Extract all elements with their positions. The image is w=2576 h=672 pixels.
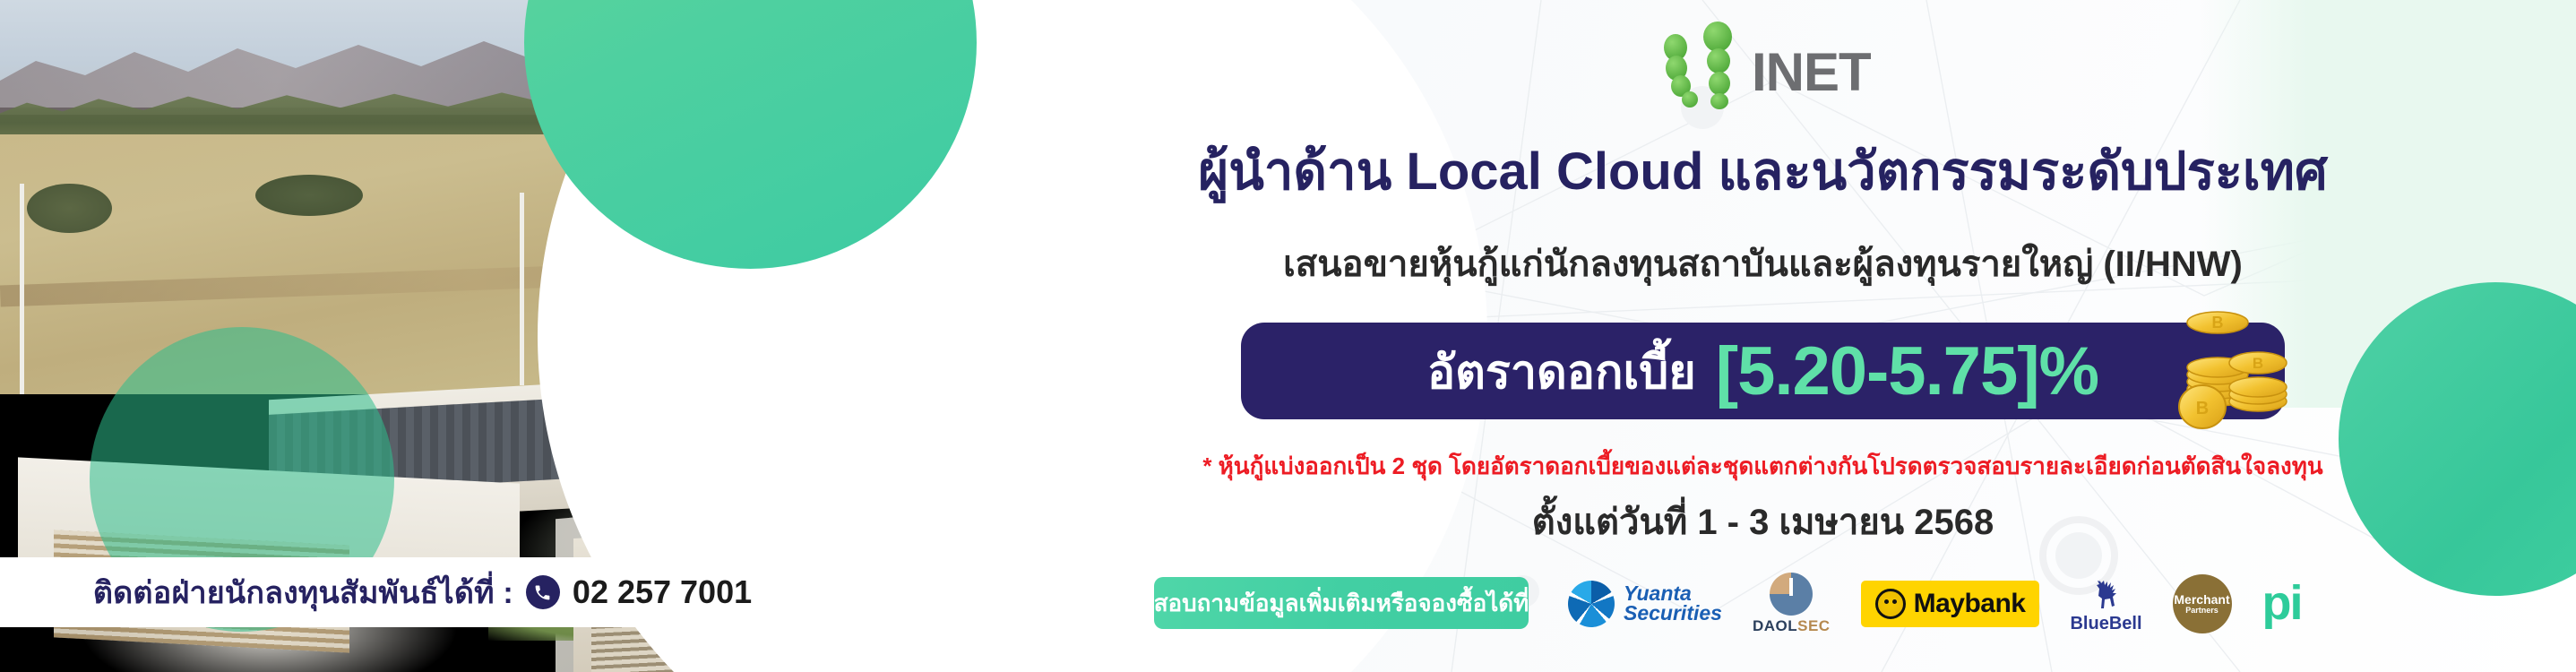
daol-sec-label: SEC xyxy=(1797,617,1830,634)
contact-label: ติดต่อฝ่ายนักลงทุนสัมพันธ์ได้ที่ : xyxy=(93,568,513,616)
inet-logo: INET xyxy=(1662,20,1958,102)
content-column: INET ผู้นำด้าน Local Cloud และนวัตกรรมระ… xyxy=(950,0,2576,672)
svg-text:B: B xyxy=(2253,355,2263,372)
partner-logo-bluebell[interactable]: BlueBell xyxy=(2070,573,2141,634)
partner-logo-pi[interactable]: pi xyxy=(2262,584,2302,623)
page-subtitle: เสนอขายหุ้นกู้แก่นักลงทุนสถาบันและผู้ลงท… xyxy=(950,235,2576,292)
partner-logo-yuanta[interactable]: Yuanta Securities xyxy=(1568,581,1722,627)
partner-logos: Yuanta Securities DAOLSEC Maybank xyxy=(1568,568,2302,640)
interest-rate-section: อัตราดอกเบี้ย [5.20-5.75]% B xyxy=(950,315,2576,427)
daol-label: DAOL xyxy=(1753,617,1797,634)
logo-dots-icon xyxy=(1662,20,1748,102)
bluebell-label: BlueBell xyxy=(2070,614,2141,634)
merchant-label: Merchant xyxy=(2174,593,2229,607)
interest-rate-banner: อัตราดอกเบี้ย [5.20-5.75]% xyxy=(1241,323,2285,419)
bluebell-deer-icon xyxy=(2087,573,2126,613)
promotional-banner: ติดต่อฝ่ายนักลงทุนสัมพันธ์ได้ที่ : 02 25… xyxy=(0,0,2576,672)
yuanta-label-line2: Securities xyxy=(1624,604,1722,624)
contact-phone-number: 02 257 7001 xyxy=(573,573,752,611)
logo-wordmark: INET xyxy=(1752,41,1871,103)
yuanta-star-icon xyxy=(1568,581,1615,627)
svg-text:B: B xyxy=(2196,399,2209,418)
investor-relations-contact[interactable]: ติดต่อฝ่ายนักลงทุนสัมพันธ์ได้ที่ : 02 25… xyxy=(0,557,845,627)
merchant-partners-label: Partners xyxy=(2185,606,2218,615)
gold-coins-icon: B B B xyxy=(2168,296,2303,430)
interest-rate-label: อัตราดอกเบี้ย xyxy=(1427,334,1696,409)
inquiry-button[interactable]: สอบถามข้อมูลเพิ่มเติมหรือจองซื้อได้ที่ xyxy=(1154,577,1529,629)
interest-rate-value: [5.20-5.75]% xyxy=(1716,332,2098,410)
maybank-tiger-icon xyxy=(1875,589,1906,619)
disclaimer-note: * หุ้นกู้แบ่งออกเป็น 2 ชุด โดยอัตราดอกเบ… xyxy=(950,448,2576,485)
maybank-label: Maybank xyxy=(1914,589,2026,619)
pi-label: pi xyxy=(2262,584,2302,623)
cta-row: สอบถามข้อมูลเพิ่มเติมหรือจองซื้อได้ที่ Y… xyxy=(950,573,2576,650)
partner-logo-daol[interactable]: DAOLSEC xyxy=(1753,573,1831,635)
svg-text:B: B xyxy=(2212,314,2224,332)
page-title: ผู้นำด้าน Local Cloud และนวัตกรรมระดับปร… xyxy=(950,143,2576,201)
phone-icon xyxy=(526,575,560,609)
partner-logo-merchant[interactable]: Merchant Partners xyxy=(2173,574,2232,633)
offering-dates: ตั้งแต่วันที่ 1 - 3 เมษายน 2568 xyxy=(950,493,2576,550)
partner-logo-maybank[interactable]: Maybank xyxy=(1861,581,2040,627)
daol-chart-icon xyxy=(1770,573,1813,616)
